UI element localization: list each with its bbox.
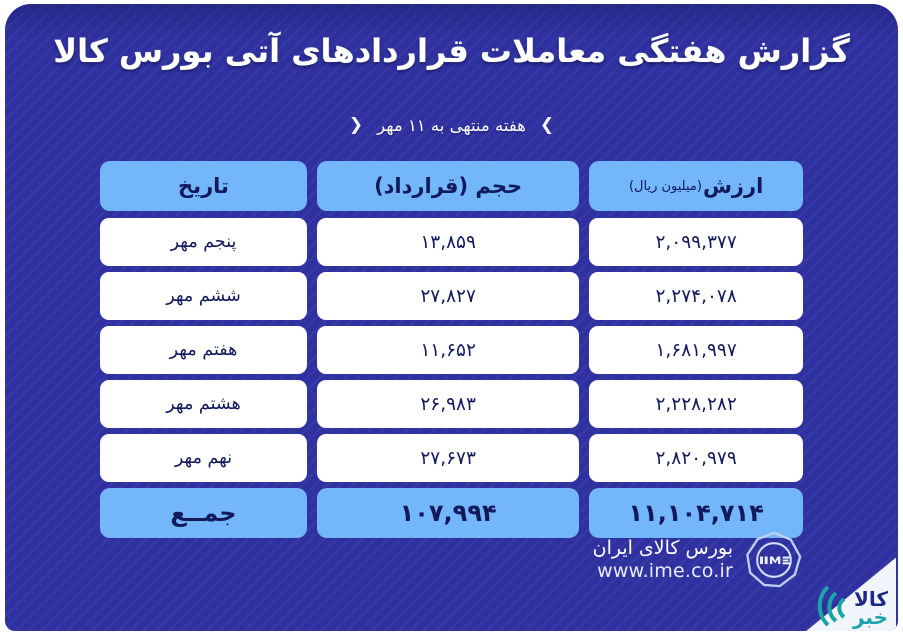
cell-date: ششم مهر [100,272,307,320]
cell-date: هفتم مهر [100,326,307,374]
page-title: گزارش هفتگی معاملات قراردادهای آتی بورس … [53,31,849,71]
table-row: ۲,۲۷۴,۰۷۸ ۲۷,۸۲۷ ششم مهر [100,272,803,320]
cell-value: ۲,۸۲۰,۹۷۹ [589,434,803,482]
chevron-left-icon: ❮ [349,117,363,134]
ime-logo-icon [745,531,803,589]
column-header-volume: حجم (قرارداد) [317,161,579,211]
total-label: جمــع [100,488,307,538]
title-area: گزارش هفتگی معاملات قراردادهای آتی بورس … [5,31,898,71]
watermark-line-1: کالا [853,589,888,609]
column-header-value: ارزش(میلیون ریال) [589,161,803,211]
footer-organization: بورس کالای ایران [593,537,733,560]
column-header-value-label: ارزش [703,174,763,198]
table-row: ۲,۸۲۰,۹۷۹ ۲۷,۶۷۳ نهم مهر [100,434,803,482]
table-header-row: ارزش(میلیون ریال) حجم (قرارداد) تاریخ [100,161,803,211]
cell-volume: ۲۶,۹۸۳ [317,380,579,428]
footer: بورس کالای ایران www.ime.co.ir [593,531,803,589]
poster-canvas: گزارش هفتگی معاملات قراردادهای آتی بورس … [0,0,903,633]
cell-volume: ۱۱,۶۵۲ [317,326,579,374]
watermark-line-2: خبر [853,607,888,627]
total-volume: ۱۰۷,۹۹۴ [317,488,579,538]
cell-date: پنجم مهر [100,218,307,266]
cell-volume: ۱۳,۸۵۹ [317,218,579,266]
infographic-card: گزارش هفتگی معاملات قراردادهای آتی بورس … [5,4,898,631]
cell-volume: ۲۷,۸۲۷ [317,272,579,320]
cell-value: ۲,۲۷۴,۰۷۸ [589,272,803,320]
cell-date: نهم مهر [100,434,307,482]
table-row: ۲,۰۹۹,۳۷۷ ۱۳,۸۵۹ پنجم مهر [100,218,803,266]
table-row: ۲,۲۲۸,۲۸۲ ۲۶,۹۸۳ هشتم مهر [100,380,803,428]
subtitle-area: ❯ هفته منتهی به ۱۱ مهر ❮ [5,116,898,135]
cell-volume: ۲۷,۶۷۳ [317,434,579,482]
column-header-value-unit: (میلیون ریال) [629,179,702,194]
watermark-text: کالا خبر [853,589,888,627]
subtitle-text: هفته منتهی به ۱۱ مهر [377,116,526,135]
cell-date: هشتم مهر [100,380,307,428]
cell-value: ۲,۰۹۹,۳۷۷ [589,218,803,266]
column-header-date: تاریخ [100,161,307,211]
cell-value: ۲,۲۲۸,۲۸۲ [589,380,803,428]
footer-text-block: بورس کالای ایران www.ime.co.ir [593,537,733,583]
footer-website[interactable]: www.ime.co.ir [593,560,733,583]
table-row: ۱,۶۸۱,۹۹۷ ۱۱,۶۵۲ هفتم مهر [100,326,803,374]
cell-value: ۱,۶۸۱,۹۹۷ [589,326,803,374]
chevron-right-icon: ❯ [540,117,554,134]
weekly-report-table: ارزش(میلیون ریال) حجم (قرارداد) تاریخ ۲,… [100,161,803,544]
